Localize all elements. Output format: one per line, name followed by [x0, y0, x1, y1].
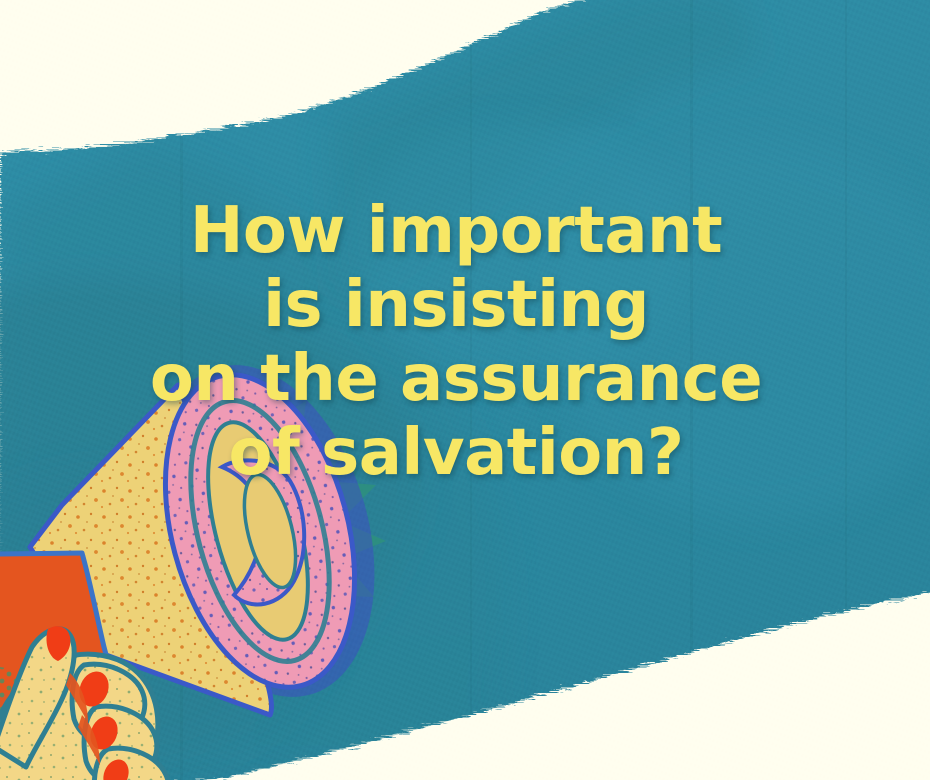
- headline-line-2: is insisting: [0, 268, 912, 342]
- poster-canvas: How important is insisting on the assura…: [0, 0, 930, 780]
- poster-headline: How important is insisting on the assura…: [0, 194, 912, 490]
- headline-line-3: on the assurance: [0, 342, 912, 416]
- headline-line-1: How important: [0, 194, 912, 268]
- headline-line-4: of salvation?: [0, 416, 912, 490]
